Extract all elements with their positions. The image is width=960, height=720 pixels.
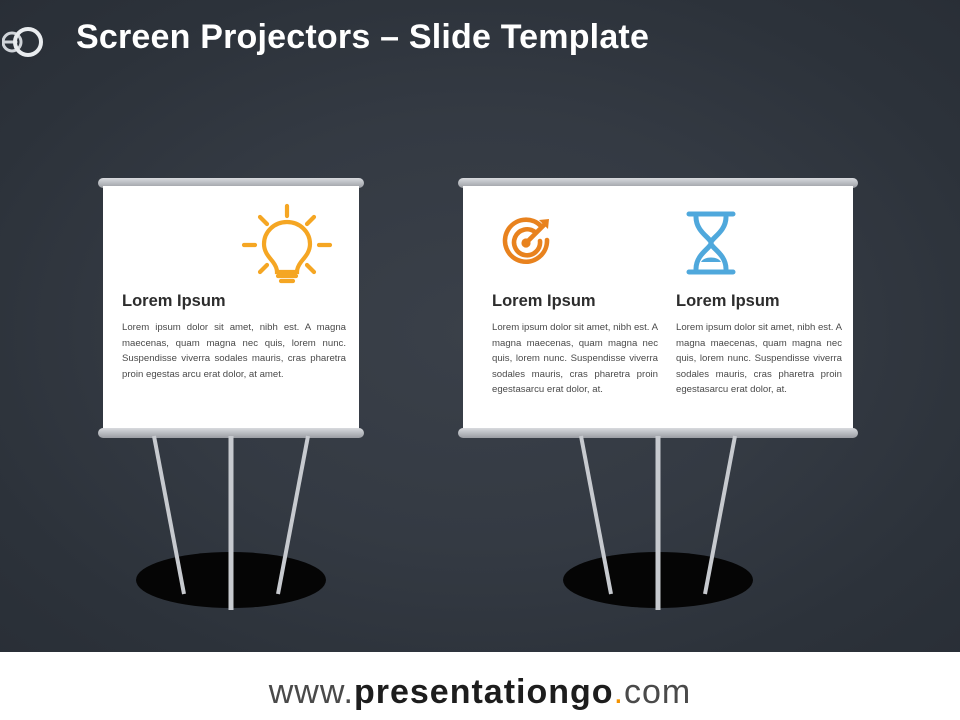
- url-tld: com: [624, 673, 691, 711]
- left-text-block: Lorem Ipsum Lorem ipsum dolor sit amet, …: [122, 292, 346, 382]
- right-text-block-2: Lorem Ipsum Lorem ipsum dolor sit amet, …: [676, 292, 842, 398]
- target-arrow-icon: [497, 214, 555, 277]
- right-text-block-1: Lorem Ipsum Lorem ipsum dolor sit amet, …: [492, 292, 658, 398]
- block-title: Lorem Ipsum: [492, 292, 658, 311]
- url-dot: .: [614, 673, 624, 711]
- block-body: Lorem ipsum dolor sit amet, nibh est. A …: [492, 320, 658, 398]
- block-title: Lorem Ipsum: [676, 292, 842, 311]
- block-body: Lorem ipsum dolor sit amet, nibh est. A …: [122, 320, 346, 382]
- slide-canvas: Screen Projectors – Slide Template: [0, 0, 960, 720]
- circle-loop-icon: [2, 22, 60, 62]
- lightbulb-icon: [238, 200, 336, 293]
- tripod-legs: [98, 434, 364, 614]
- hourglass-icon: [683, 210, 739, 281]
- block-body: Lorem ipsum dolor sit amet, nibh est. A …: [676, 320, 842, 398]
- page-title: Screen Projectors – Slide Template: [76, 18, 649, 57]
- block-title: Lorem Ipsum: [122, 292, 346, 311]
- site-url: www.presentationgo.com: [0, 673, 960, 712]
- footer-bar: www.presentationgo.com: [0, 652, 960, 720]
- tripod-legs: [458, 434, 858, 614]
- url-brand: presentationgo: [354, 673, 614, 711]
- url-prefix: www.: [269, 673, 354, 711]
